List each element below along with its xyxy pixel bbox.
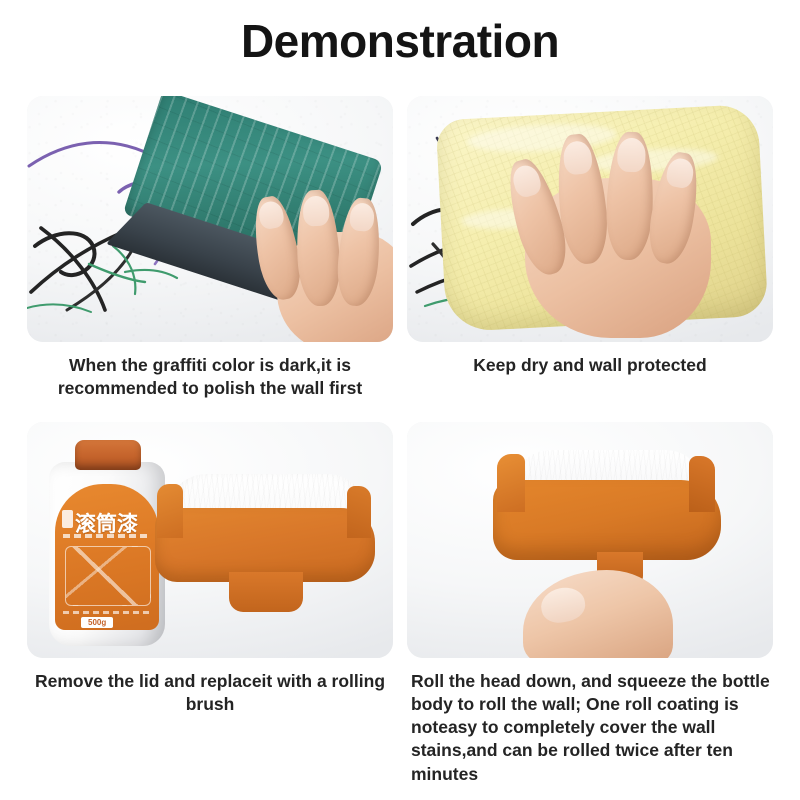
demo-cell-roll-wall: Roll the head down, and squeeze the bott… xyxy=(407,422,773,785)
photo-replace-lid: 滚筒漆 500g xyxy=(27,422,393,658)
demo-grid: When the graffiti color is dark,it is re… xyxy=(27,96,773,786)
hand-wiping xyxy=(503,120,723,340)
demo-row-2: 滚筒漆 500g xyxy=(27,422,773,785)
fingernail xyxy=(303,195,330,226)
roller-frame-arm-left xyxy=(157,484,183,538)
demonstration-page: Demonstration xyxy=(0,0,800,800)
photo-roll-wall xyxy=(407,422,773,658)
caption-polish-wall: When the graffiti color is dark,it is re… xyxy=(27,342,393,400)
demo-cell-replace-lid: 滚筒漆 500g xyxy=(27,422,393,785)
fingernail xyxy=(562,139,593,175)
fingernail xyxy=(665,156,695,189)
roller-frame xyxy=(155,508,375,582)
label-subtitle-lines xyxy=(63,534,151,538)
roller-brush-head xyxy=(155,474,375,634)
roller-frame xyxy=(493,480,721,560)
label-footer-lines xyxy=(63,611,151,614)
roller-frame-arm-right xyxy=(689,456,715,512)
paint-bottle: 滚筒漆 500g xyxy=(49,440,165,646)
roller-bottle-neck xyxy=(229,572,303,612)
roller-frame-arm-right xyxy=(347,486,371,538)
fingernail xyxy=(349,203,375,233)
roller-frame-arm-left xyxy=(497,454,525,512)
photo-polish-wall xyxy=(27,96,393,342)
demo-row-1: When the graffiti color is dark,it is re… xyxy=(27,96,773,400)
page-title: Demonstration xyxy=(0,14,800,68)
caption-keep-dry: Keep dry and wall protected xyxy=(407,342,773,377)
photo-keep-dry xyxy=(407,96,773,342)
demo-cell-keep-dry: Keep dry and wall protected xyxy=(407,96,773,400)
label-side-tag xyxy=(62,510,73,528)
demo-cell-polish-wall: When the graffiti color is dark,it is re… xyxy=(27,96,393,400)
label-illustration xyxy=(65,546,151,606)
thumbnail xyxy=(538,584,588,626)
fingernail xyxy=(617,138,646,172)
fingernail xyxy=(510,162,544,199)
hand-holding-sander xyxy=(241,188,393,342)
fingernail xyxy=(257,200,285,231)
bottle-cap xyxy=(75,440,141,470)
label-net-weight: 500g xyxy=(81,617,113,628)
bottle-label: 滚筒漆 500g xyxy=(55,484,159,630)
caption-roll-wall: Roll the head down, and squeeze the bott… xyxy=(407,658,773,785)
caption-replace-lid: Remove the lid and replaceit with a roll… xyxy=(27,658,393,716)
